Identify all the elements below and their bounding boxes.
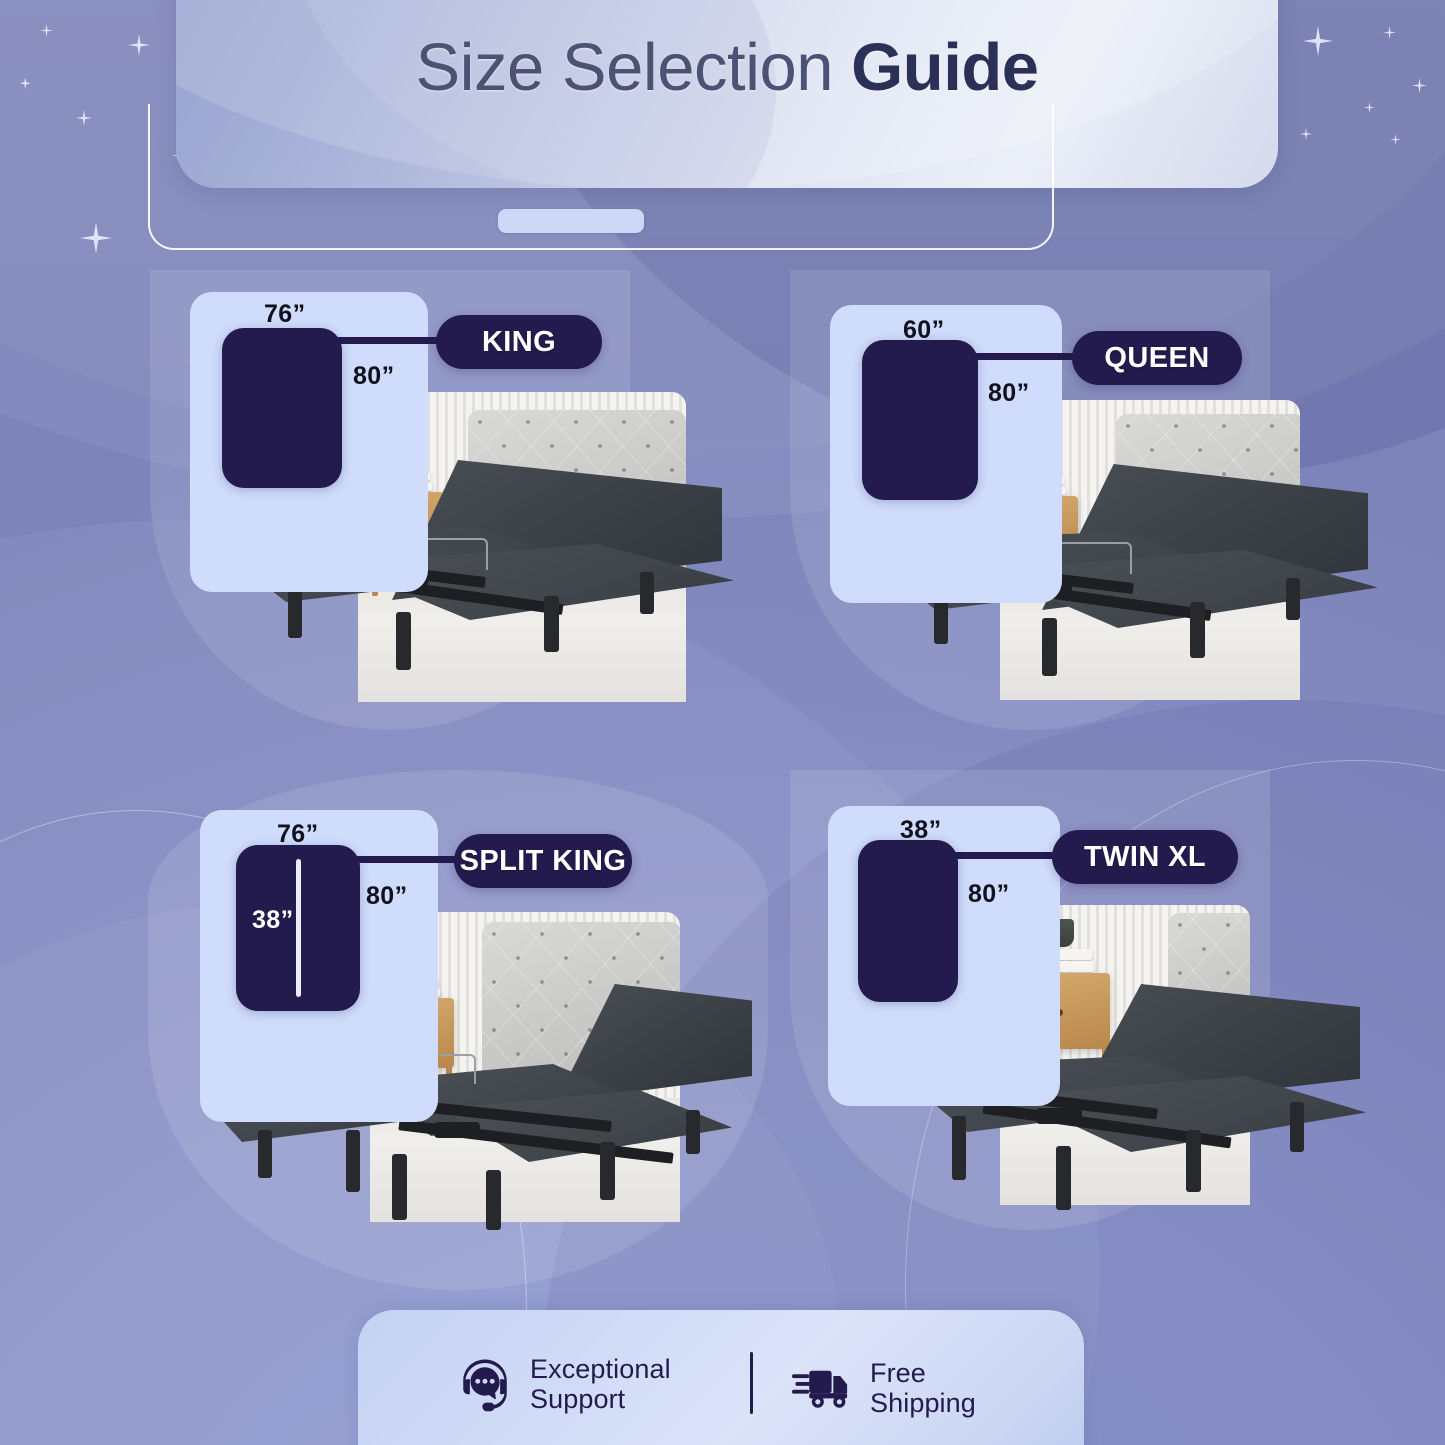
twin-xl-badge[interactable]: TWIN XL (1052, 830, 1238, 884)
twin-xl-badge-label: TWIN XL (1084, 841, 1206, 874)
feature-exceptional-support[interactable]: Exceptional Support (456, 1354, 671, 1414)
infographic-canvas: Size Selection Guide (0, 0, 1445, 1445)
bed-leg (392, 1154, 407, 1220)
queen-badge-label: QUEEN (1104, 342, 1209, 375)
delivery-truck-icon (792, 1363, 854, 1413)
split-king-inner-label: 38” (252, 906, 294, 935)
bed-leg (288, 584, 302, 638)
twin-xl-length-label: 80” (968, 880, 1010, 909)
bed-leg (640, 572, 654, 614)
bed-leg (1056, 1146, 1071, 1210)
bed-motor-housing (434, 1122, 480, 1138)
queen-length-label: 80” (988, 379, 1030, 408)
split-king-badge-label: SPLIT KING (460, 845, 627, 878)
king-width-label: 76” (264, 300, 306, 329)
shipping-line-2: Shipping (870, 1388, 976, 1418)
footer-card: Exceptional Support (358, 1310, 1084, 1445)
support-line-1: Exceptional (530, 1354, 671, 1384)
bed-leg (952, 1116, 966, 1180)
page-title-light: Size Selection (415, 30, 851, 105)
bed-leg (258, 1130, 272, 1178)
page-title: Size Selection Guide (176, 34, 1278, 101)
feature-free-shipping[interactable]: Free Shipping (792, 1358, 976, 1418)
headset-support-icon (456, 1355, 514, 1413)
bed-leg (396, 612, 411, 670)
exceptional-support-label: Exceptional Support (530, 1354, 671, 1414)
bed-leg (1190, 602, 1205, 658)
queen-mattress-rect (862, 340, 978, 500)
footer-divider (750, 1352, 753, 1414)
free-shipping-label: Free Shipping (870, 1358, 976, 1418)
split-king-length-label: 80” (366, 882, 408, 911)
split-king-divider-line (296, 859, 301, 997)
king-badge-label: KING (482, 326, 556, 359)
queen-badge[interactable]: QUEEN (1072, 331, 1242, 385)
split-king-width-label: 76” (277, 820, 319, 849)
bed-leg (686, 1110, 700, 1154)
shipping-line-1: Free (870, 1358, 926, 1388)
page-title-bold: Guide (851, 30, 1038, 105)
bed-leg (1286, 578, 1300, 620)
bed-leg (1042, 618, 1057, 676)
header-connector-pill (498, 209, 644, 233)
bed-leg (1186, 1130, 1201, 1192)
king-length-label: 80” (353, 362, 395, 391)
bed-leg (544, 596, 559, 652)
bed-leg (1290, 1102, 1304, 1152)
split-king-badge[interactable]: SPLIT KING (454, 834, 632, 888)
bed-leg (486, 1170, 501, 1230)
bed-motor-housing (1036, 1108, 1082, 1124)
bed-leg (600, 1142, 615, 1200)
queen-width-label: 60” (903, 316, 945, 345)
king-badge[interactable]: KING (436, 315, 602, 369)
twin-xl-mattress-rect (858, 840, 958, 1002)
twin-xl-width-label: 38” (900, 816, 942, 845)
support-line-2: Support (530, 1384, 625, 1414)
king-mattress-rect (222, 328, 342, 488)
bed-leg (346, 1130, 360, 1192)
